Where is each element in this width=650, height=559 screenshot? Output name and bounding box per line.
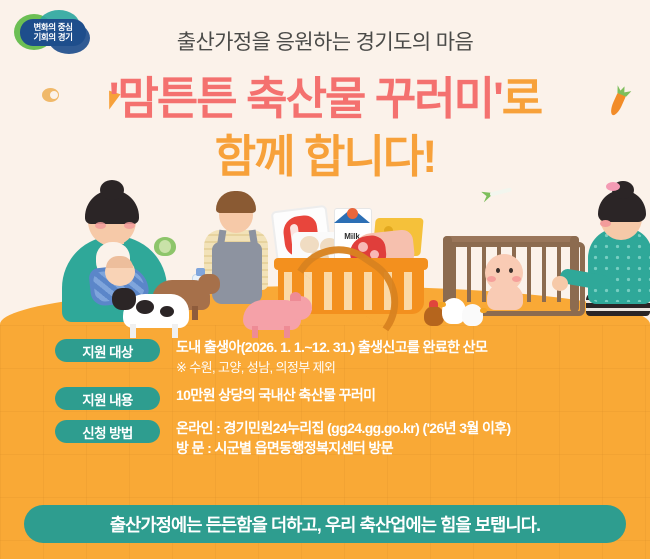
crib-baby-eye-right <box>509 268 513 273</box>
info-row: 지원 대상 도내 출생아(2026. 1. 1.~12. 31.) 출생신고를 … <box>0 338 650 377</box>
duck-beak-1 <box>438 302 446 307</box>
info-section: 지원 대상 도내 출생아(2026. 1. 1.~12. 31.) 출생신고를 … <box>0 338 650 468</box>
badge-support-content: 지원 내용 <box>55 387 160 410</box>
headline-main: '맘튼튼 축산물 꾸러미' <box>109 73 502 124</box>
mother-cheek-right <box>124 222 135 229</box>
pig-ear <box>290 292 301 301</box>
bottom-banner: 출산가정에는 든든함을 더하고, 우리 축산업에는 힘을 보탭니다. <box>24 505 626 543</box>
dairy-cow-head <box>112 288 136 310</box>
duck-beak-2 <box>480 308 487 313</box>
woman-hand <box>552 276 568 291</box>
info-row: 신청 방법 온라인 : 경기민원24누리집 (gg24.gg.go.kr) ('… <box>0 419 650 459</box>
dairy-cow-leg-1 <box>130 324 136 338</box>
info-row-line-1: 도내 출생아(2026. 1. 1.~12. 31.) 출생신고를 완료한 산모 <box>176 338 650 358</box>
hen-comb <box>429 300 438 307</box>
kicker-text: 출산가정을 응원하는 경기도의 마음 <box>0 26 650 56</box>
milk-carton-cap <box>347 208 358 219</box>
poster-root: 변화의 중심 기회의 경기 출산가정을 응원하는 경기도의 마음 '맘튼튼 축산… <box>0 0 650 559</box>
mother-cheek-left <box>95 222 106 229</box>
headline-line-1: '맘튼튼 축산물 꾸러미'로 <box>0 76 650 121</box>
pig-leg-2 <box>284 326 290 338</box>
hen-body <box>424 306 444 326</box>
woman-hair-bow <box>606 182 620 191</box>
woman-cheek <box>600 220 611 227</box>
brown-cow-head <box>198 274 220 294</box>
woman-dress-pattern <box>590 230 650 302</box>
crib-baby-eye-left <box>496 268 500 273</box>
dairy-cow-spot-1 <box>136 300 154 314</box>
illustration-stage: Milk <box>0 180 650 330</box>
crib-baby-head <box>485 254 523 292</box>
mother-hair-bun <box>100 180 124 200</box>
info-row-line-1: 온라인 : 경기민원24누리집 (gg24.gg.go.kr) ('26년 3월… <box>176 419 650 439</box>
info-row-text: 도내 출생아(2026. 1. 1.~12. 31.) 출생신고를 완료한 산모… <box>176 338 650 377</box>
crib-baby-cheek-right <box>512 276 521 282</box>
info-row-line-1: 10만원 상당의 국내산 축산물 꾸러미 <box>176 386 650 406</box>
headline-suffix: 로 <box>502 73 541 124</box>
dairy-cow-leg-2 <box>172 324 178 338</box>
farmer-overalls <box>212 242 262 304</box>
info-row-line-2: ※ 수원, 고양, 성남, 의정부 제외 <box>176 358 650 378</box>
duck-body-2 <box>462 304 483 326</box>
info-row-text: 10만원 상당의 국내산 축산물 꾸러미 <box>176 386 650 406</box>
badge-application-method: 신청 방법 <box>55 420 160 443</box>
info-row-text: 온라인 : 경기민원24누리집 (gg24.gg.go.kr) ('26년 3월… <box>176 419 650 459</box>
headline-line-2: 함께 합니다! <box>0 134 650 179</box>
pig-leg-1 <box>252 326 258 338</box>
info-row-line-2: 방 문 : 시군별 읍면동행정복지센터 방문 <box>176 439 650 459</box>
info-row: 지원 내용 10만원 상당의 국내산 축산물 꾸러미 <box>0 386 650 410</box>
badge-support-target: 지원 대상 <box>55 339 160 362</box>
farmer-hair <box>216 191 256 213</box>
dairy-cow-spot-2 <box>160 306 174 317</box>
crib-baby-cheek-left <box>487 276 496 282</box>
brown-cow-leg-2 <box>192 306 198 320</box>
